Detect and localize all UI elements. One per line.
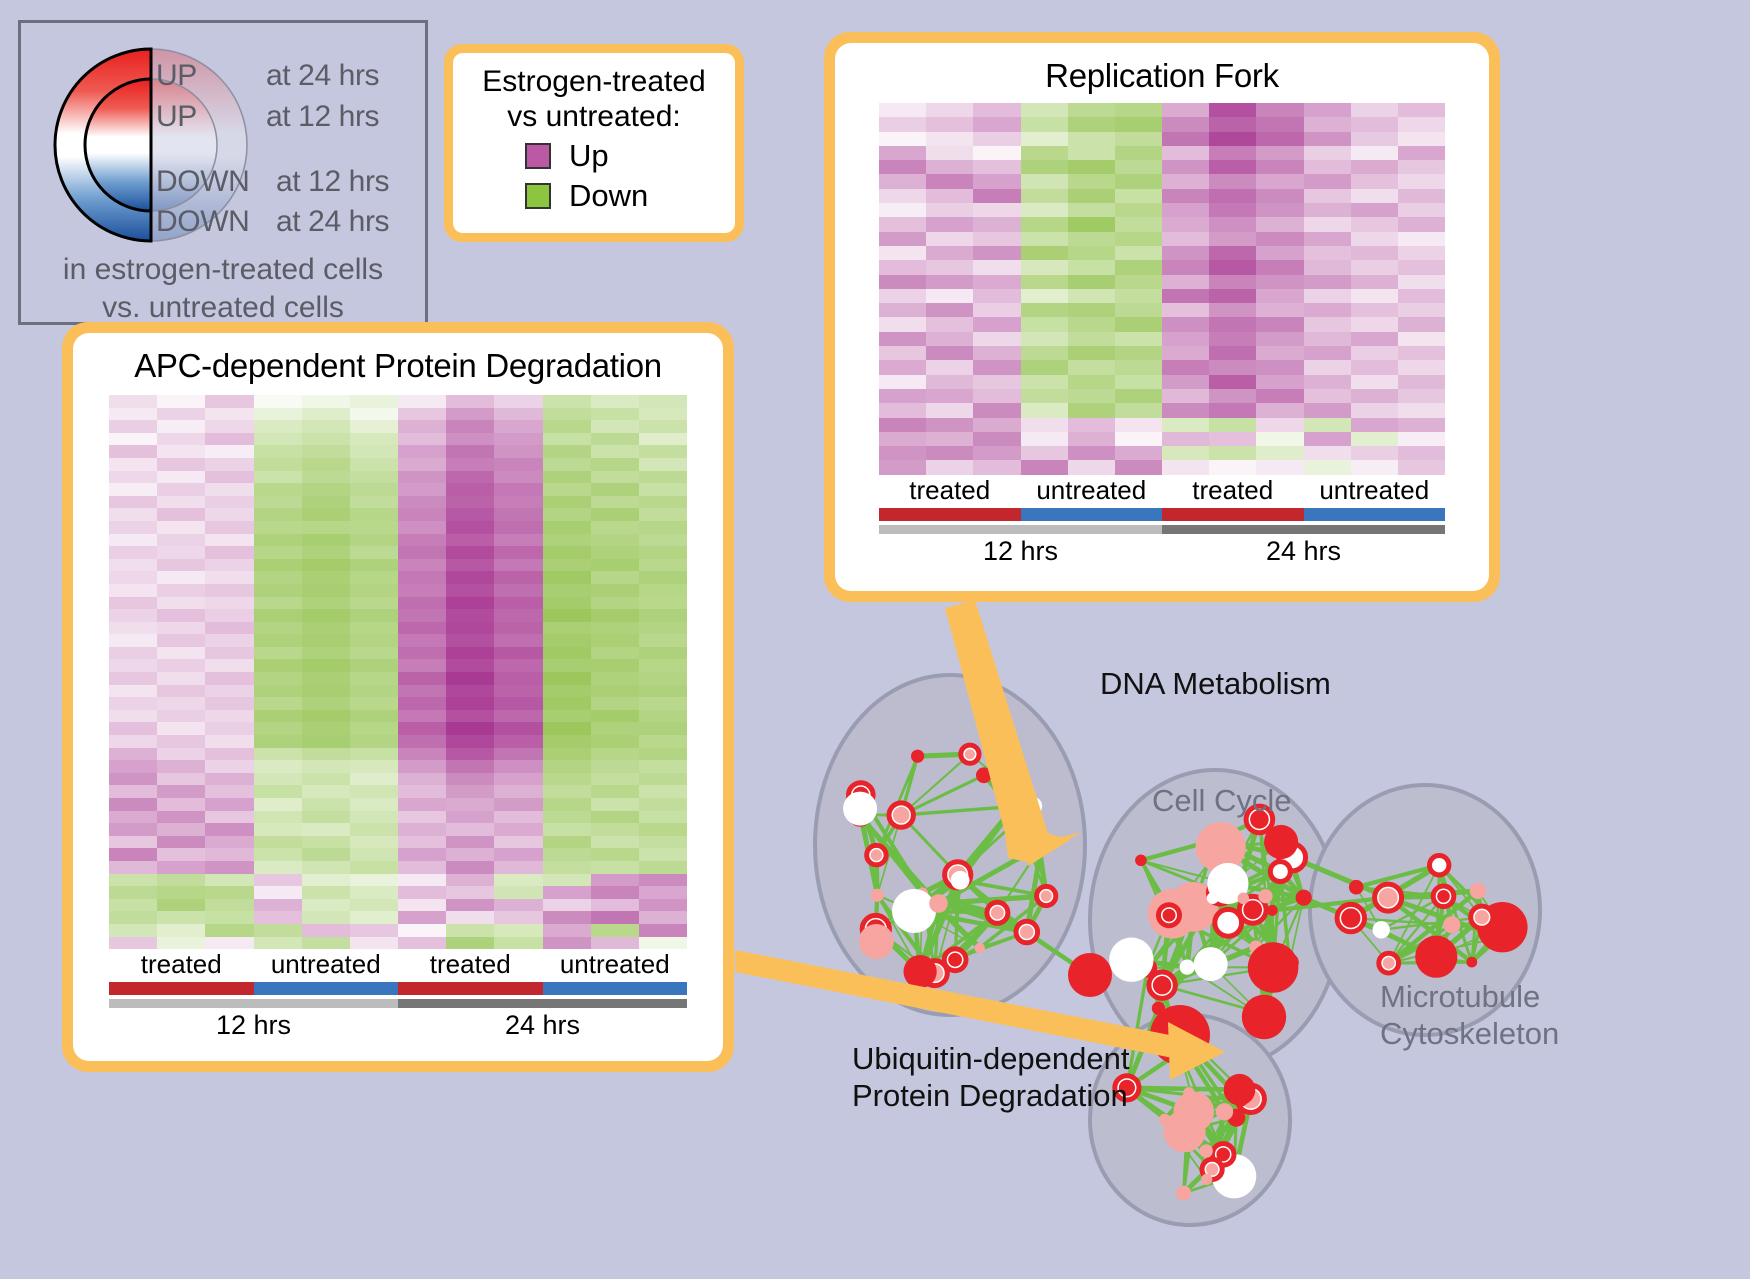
- heatmap-cell: [1021, 446, 1068, 460]
- heatmap-cell: [1068, 275, 1115, 289]
- cluster-label-microtubule-line1: Microtubule: [1380, 978, 1559, 1015]
- heatmap-cell: [1398, 418, 1445, 432]
- heatmap-cell: [639, 823, 687, 836]
- heatmap-cell: [350, 798, 398, 811]
- heatmap-cell: [926, 189, 973, 203]
- heatmap-cell: [973, 132, 1020, 146]
- heatmap-cell: [1209, 189, 1256, 203]
- heatmap-cell: [639, 559, 687, 572]
- heatmap-cell: [926, 346, 973, 360]
- heatmap-cell: [205, 899, 253, 912]
- heatmap-cell: [205, 496, 253, 509]
- heatmap-cell: [1351, 117, 1398, 131]
- heatmap-cell: [398, 420, 446, 433]
- heatmap-cell: [926, 174, 973, 188]
- heatmap-cell: [109, 874, 157, 887]
- heatmap-cell: [1162, 132, 1209, 146]
- apc-panel: APC-dependent Protein Degradation treate…: [62, 322, 734, 1072]
- heatmap-cell: [109, 811, 157, 824]
- heatmap-cell: [398, 659, 446, 672]
- heatmap-cell: [157, 584, 205, 597]
- heatmap-cell: [302, 811, 350, 824]
- heatmap-cell: [1351, 160, 1398, 174]
- heatmap-cell: [157, 483, 205, 496]
- heatmap-cell: [1162, 117, 1209, 131]
- heatmap-cell: [157, 823, 205, 836]
- heatmap-cell: [398, 546, 446, 559]
- heatmap-cell: [157, 408, 205, 421]
- heatmap-cell: [591, 773, 639, 786]
- heatmap-cell: [1304, 132, 1351, 146]
- heatmap-cell: [1115, 117, 1162, 131]
- heatmap-cell: [543, 899, 591, 912]
- heatmap-cell: [350, 861, 398, 874]
- heatmap-cell: [543, 445, 591, 458]
- heatmap-cell: [205, 924, 253, 937]
- heatmap-cell: [302, 685, 350, 698]
- heatmap-cell: [639, 937, 687, 950]
- heatmap-cell: [1068, 446, 1115, 460]
- heatmap-cell: [1162, 375, 1209, 389]
- heatmap-cell: [350, 760, 398, 773]
- heatmap-cell: [879, 418, 926, 432]
- heatmap-cell: [494, 559, 542, 572]
- heatmap-cell: [543, 798, 591, 811]
- heatmap-cell: [302, 773, 350, 786]
- heatmap-cell: [1162, 289, 1209, 303]
- heatmap-cell: [591, 471, 639, 484]
- cluster-label-dna-metabolism: DNA Metabolism: [1100, 665, 1331, 702]
- heatmap-cell: [157, 798, 205, 811]
- heatmap-cell: [254, 395, 302, 408]
- heatmap-cell: [398, 760, 446, 773]
- heatmap-cell: [350, 773, 398, 786]
- heatmap-cell: [1115, 289, 1162, 303]
- heatmap-cell: [639, 710, 687, 723]
- apc-title: APC-dependent Protein Degradation: [73, 333, 723, 385]
- heatmap-cell: [494, 811, 542, 824]
- heatmap-cell: [494, 748, 542, 761]
- heatmap-cell: [494, 609, 542, 622]
- heatmap-cell: [591, 722, 639, 735]
- heatmap-cell: [350, 848, 398, 861]
- replication-fork-column-labels: treateduntreatedtreateduntreated: [879, 475, 1445, 506]
- network-node: [975, 943, 985, 953]
- heatmap-cell: [398, 597, 446, 610]
- network-node: [904, 955, 937, 988]
- heatmap-cell: [205, 811, 253, 824]
- heatmap-cell: [1351, 275, 1398, 289]
- heatmap-cell: [543, 571, 591, 584]
- heatmap-cell: [879, 174, 926, 188]
- heatmap-cell: [1209, 260, 1256, 274]
- heatmap-cell: [1398, 246, 1445, 260]
- heatmap-cell: [205, 647, 253, 660]
- heatmap-cell: [446, 710, 494, 723]
- heatmap-cell: [1256, 103, 1303, 117]
- heatmap-cell: [302, 647, 350, 660]
- heatmap-cell: [1115, 432, 1162, 446]
- heatmap-cell: [1021, 260, 1068, 274]
- heatmap-cell: [157, 546, 205, 559]
- heatmap-cell: [639, 924, 687, 937]
- heatmap-cell: [639, 597, 687, 610]
- heatmap-cell: [157, 647, 205, 660]
- heatmap-cell: [591, 597, 639, 610]
- heatmap-cell: [205, 483, 253, 496]
- network-node: [951, 871, 970, 890]
- heatmap-cell: [157, 937, 205, 950]
- heatmap-cell: [1115, 275, 1162, 289]
- heatmap-cell: [1115, 146, 1162, 160]
- heatmap-cell: [1115, 375, 1162, 389]
- heatmap-cell: [543, 659, 591, 672]
- heatmap-cell: [446, 924, 494, 937]
- heatmap-cell: [1209, 160, 1256, 174]
- heatmap-cell: [973, 332, 1020, 346]
- heatmap-cell: [254, 722, 302, 735]
- heatmap-cell: [639, 471, 687, 484]
- heatmap-cell: [1162, 360, 1209, 374]
- heatmap-cell: [591, 685, 639, 698]
- heatmap-cell: [543, 534, 591, 547]
- heatmap-cell: [302, 924, 350, 937]
- heatmap-cell: [446, 483, 494, 496]
- heatmap-cell: [879, 217, 926, 231]
- heatmap-cell: [109, 395, 157, 408]
- heatmap-cell: [639, 874, 687, 887]
- network-node: [976, 767, 992, 783]
- heatmap-cell: [1398, 146, 1445, 160]
- heatmap-cell: [494, 773, 542, 786]
- heatmap-cell: [1021, 303, 1068, 317]
- heatmap-cell: [879, 289, 926, 303]
- heatmap-cell: [1256, 389, 1303, 403]
- heatmap-cell: [1304, 232, 1351, 246]
- heatmap-cell: [1304, 332, 1351, 346]
- heatmap-cell: [302, 735, 350, 748]
- heatmap-cell: [879, 275, 926, 289]
- heatmap-cell: [205, 634, 253, 647]
- heatmap-cell: [1351, 203, 1398, 217]
- heatmap-cell: [254, 445, 302, 458]
- heatmap-cell: [494, 861, 542, 874]
- apc-heatmap: [109, 395, 687, 949]
- heatmap-cell: [1256, 160, 1303, 174]
- heatmap-cell: [494, 420, 542, 433]
- heatmap-cell: [254, 420, 302, 433]
- heatmap-cell: [879, 103, 926, 117]
- heatmap-cell: [639, 571, 687, 584]
- heatmap-cell: [1021, 174, 1068, 188]
- heatmap-cell: [302, 508, 350, 521]
- heatmap-cell: [1256, 432, 1303, 446]
- heatmap-cell: [1256, 260, 1303, 274]
- heatmap-cell: [1256, 203, 1303, 217]
- network-node: [871, 849, 882, 860]
- heatmap-cell: [109, 458, 157, 471]
- heatmap-cell: [1256, 174, 1303, 188]
- heatmap-cell: [879, 203, 926, 217]
- heatmap-cell: [398, 521, 446, 534]
- heatmap-cell: [302, 597, 350, 610]
- heatmap-cell: [446, 395, 494, 408]
- heatmap-cell: [398, 722, 446, 735]
- heatmap-cell: [639, 458, 687, 471]
- heatmap-cell: [1115, 160, 1162, 174]
- heatmap-cell: [1398, 389, 1445, 403]
- heatmap-cell: [1256, 217, 1303, 231]
- heatmap-cell: [1351, 189, 1398, 203]
- network-node: [1194, 947, 1228, 981]
- heatmap-cell: [254, 471, 302, 484]
- heatmap-cell: [205, 622, 253, 635]
- heatmap-cell: [543, 458, 591, 471]
- heatmap-cell: [543, 760, 591, 773]
- heatmap-cell: [446, 559, 494, 572]
- heatmap-cell: [1162, 418, 1209, 432]
- heatmap-cell: [591, 899, 639, 912]
- heatmap-cell: [398, 836, 446, 849]
- heatmap-cell: [1398, 346, 1445, 360]
- up-swatch-icon: [525, 143, 551, 169]
- heatmap-cell: [205, 823, 253, 836]
- heatmap-cell: [926, 232, 973, 246]
- cluster-label-ubiquitin-line2: Protein Degradation: [852, 1077, 1130, 1114]
- heatmap-cell: [1068, 346, 1115, 360]
- heatmap-cell: [543, 408, 591, 421]
- heatmap-cell: [639, 395, 687, 408]
- heatmap-cell: [398, 458, 446, 471]
- heatmap-cell: [926, 360, 973, 374]
- heatmap-cell: [302, 534, 350, 547]
- heatmap-cell: [302, 546, 350, 559]
- heatmap-cell: [302, 861, 350, 874]
- cluster-label-ubiquitin: Ubiquitin-dependent Protein Degradation: [852, 1040, 1130, 1114]
- heatmap-cell: [1398, 375, 1445, 389]
- heatmap-cell: [157, 710, 205, 723]
- heatmap-cell: [398, 697, 446, 710]
- heatmap-cell: [1304, 174, 1351, 188]
- heatmap-cell: [639, 861, 687, 874]
- heatmap-cell: [157, 722, 205, 735]
- heatmap-cell: [591, 798, 639, 811]
- heatmap-cell: [926, 146, 973, 160]
- network-node: [1150, 1005, 1210, 1065]
- heatmap-cell: [1021, 289, 1068, 303]
- heatmap-cell: [157, 634, 205, 647]
- heatmap-cell: [1209, 332, 1256, 346]
- heatmap-cell: [254, 911, 302, 924]
- heatmap-cell: [639, 911, 687, 924]
- legend-item-up: Up: [525, 138, 721, 174]
- heatmap-cell: [254, 647, 302, 660]
- heatmap-cell: [205, 597, 253, 610]
- heatmap-cell: [1256, 232, 1303, 246]
- heatmap-cell: [254, 458, 302, 471]
- heatmap-cell: [1068, 246, 1115, 260]
- heatmap-cell: [205, 433, 253, 446]
- heatmap-cell: [398, 937, 446, 950]
- heatmap-cell: [926, 160, 973, 174]
- heatmap-cell: [254, 672, 302, 685]
- heatmap-cell: [398, 471, 446, 484]
- heatmap-cell: [254, 697, 302, 710]
- column-group-label: treated: [879, 475, 1021, 506]
- heatmap-cell: [350, 546, 398, 559]
- heatmap-cell: [639, 496, 687, 509]
- heatmap-cell: [1068, 375, 1115, 389]
- network-node: [965, 749, 975, 759]
- heatmap-cell: [1256, 146, 1303, 160]
- network-node: [1434, 860, 1445, 871]
- heatmap-cell: [302, 571, 350, 584]
- heatmap-cell: [1162, 346, 1209, 360]
- heatmap-cell: [494, 647, 542, 660]
- heatmap-cell: [591, 571, 639, 584]
- heatmap-cell: [1398, 160, 1445, 174]
- heatmap-cell: [1068, 432, 1115, 446]
- heatmap-cell: [543, 609, 591, 622]
- heatmap-cell: [543, 584, 591, 597]
- heatmap-cell: [205, 420, 253, 433]
- network-node: [1248, 942, 1299, 993]
- heatmap-cell: [639, 546, 687, 559]
- heatmap-cell: [494, 571, 542, 584]
- heatmap-cell: [109, 534, 157, 547]
- heatmap-cell: [446, 722, 494, 735]
- heatmap-cell: [543, 433, 591, 446]
- heatmap-cell: [109, 823, 157, 836]
- network-node: [893, 807, 909, 823]
- heatmap-cell: [494, 924, 542, 937]
- heatmap-cell: [446, 534, 494, 547]
- heatmap-cell: [398, 886, 446, 899]
- heatmap-cell: [1209, 232, 1256, 246]
- heatmap-cell: [254, 559, 302, 572]
- heatmap-cell: [157, 471, 205, 484]
- heatmap-cell: [350, 597, 398, 610]
- key-footer-line2: vs. untreated cells: [21, 289, 425, 327]
- heatmap-cell: [1115, 332, 1162, 346]
- heatmap-cell: [302, 433, 350, 446]
- heatmap-cell: [926, 132, 973, 146]
- heatmap-cell: [1162, 203, 1209, 217]
- heatmap-cell: [639, 886, 687, 899]
- heatmap-cell: [1021, 246, 1068, 260]
- heatmap-cell: [350, 874, 398, 887]
- network-node: [1216, 1103, 1233, 1120]
- network-node: [1475, 910, 1489, 924]
- heatmap-cell: [302, 408, 350, 421]
- heatmap-cell: [302, 836, 350, 849]
- heatmap-cell: [1162, 303, 1209, 317]
- heatmap-cell: [1068, 317, 1115, 331]
- heatmap-cell: [1162, 174, 1209, 188]
- heatmap-cell: [1021, 232, 1068, 246]
- heatmap-cell: [1304, 117, 1351, 131]
- heatmap-cell: [973, 232, 1020, 246]
- heatmap-cell: [1398, 189, 1445, 203]
- heatmap-cell: [1304, 418, 1351, 432]
- heatmap-cell: [973, 403, 1020, 417]
- network-node: [859, 924, 894, 959]
- heatmap-cell: [1256, 189, 1303, 203]
- heatmap-cell: [973, 275, 1020, 289]
- heatmap-cell: [543, 483, 591, 496]
- heatmap-cell: [109, 659, 157, 672]
- heatmap-cell: [494, 433, 542, 446]
- key-footer: in estrogen-treated cells vs. untreated …: [21, 251, 425, 326]
- heatmap-cell: [1398, 117, 1445, 131]
- heatmap-cell: [543, 420, 591, 433]
- heatmap-cell: [494, 836, 542, 849]
- heatmap-cell: [109, 445, 157, 458]
- heatmap-cell: [879, 346, 926, 360]
- heatmap-cell: [1115, 132, 1162, 146]
- heatmap-cell: [157, 861, 205, 874]
- heatmap-cell: [205, 672, 253, 685]
- heatmap-cell: [446, 647, 494, 660]
- heatmap-cell: [1021, 403, 1068, 417]
- network-node: [1176, 1186, 1191, 1201]
- heatmap-cell: [109, 735, 157, 748]
- cluster-label-microtubule: Microtubule Cytoskeleton: [1380, 978, 1559, 1052]
- heatmap-cell: [446, 471, 494, 484]
- heatmap-cell: [1021, 317, 1068, 331]
- heatmap-cell: [1209, 203, 1256, 217]
- heatmap-cell: [109, 597, 157, 610]
- heatmap-cell: [398, 823, 446, 836]
- heatmap-cell: [1304, 317, 1351, 331]
- heatmap-cell: [543, 848, 591, 861]
- heatmap-cell: [494, 408, 542, 421]
- heatmap-cell: [157, 773, 205, 786]
- heatmap-cell: [639, 609, 687, 622]
- heatmap-cell: [494, 722, 542, 735]
- heatmap-cell: [1209, 132, 1256, 146]
- heatmap-cell: [1068, 203, 1115, 217]
- heatmap-cell: [1068, 103, 1115, 117]
- heatmap-cell: [973, 217, 1020, 231]
- heatmap-cell: [879, 332, 926, 346]
- heatmap-cell: [1398, 103, 1445, 117]
- heatmap-cell: [1398, 232, 1445, 246]
- heatmap-cell: [1398, 203, 1445, 217]
- heatmap-cell: [639, 521, 687, 534]
- heatmap-cell: [543, 937, 591, 950]
- heatmap-cell: [973, 346, 1020, 360]
- heatmap-cell: [879, 132, 926, 146]
- heatmap-cell: [109, 685, 157, 698]
- heatmap-cell: [1021, 146, 1068, 160]
- cluster-label-cell-cycle: Cell Cycle: [1152, 782, 1292, 819]
- heatmap-cell: [639, 899, 687, 912]
- heatmap-cell: [109, 647, 157, 660]
- heatmap-cell: [1209, 432, 1256, 446]
- key-row-3-time: at 24 hrs: [276, 205, 389, 239]
- heatmap-cell: [205, 697, 253, 710]
- time-bar-segment: [398, 999, 687, 1008]
- heatmap-cell: [205, 937, 253, 950]
- treatment-bar-segment: [879, 508, 1021, 521]
- heatmap-cell: [1021, 360, 1068, 374]
- heatmap-cell: [302, 496, 350, 509]
- heatmap-cell: [639, 811, 687, 824]
- heatmap-cell: [879, 403, 926, 417]
- heatmap-cell: [494, 823, 542, 836]
- heatmap-cell: [591, 408, 639, 421]
